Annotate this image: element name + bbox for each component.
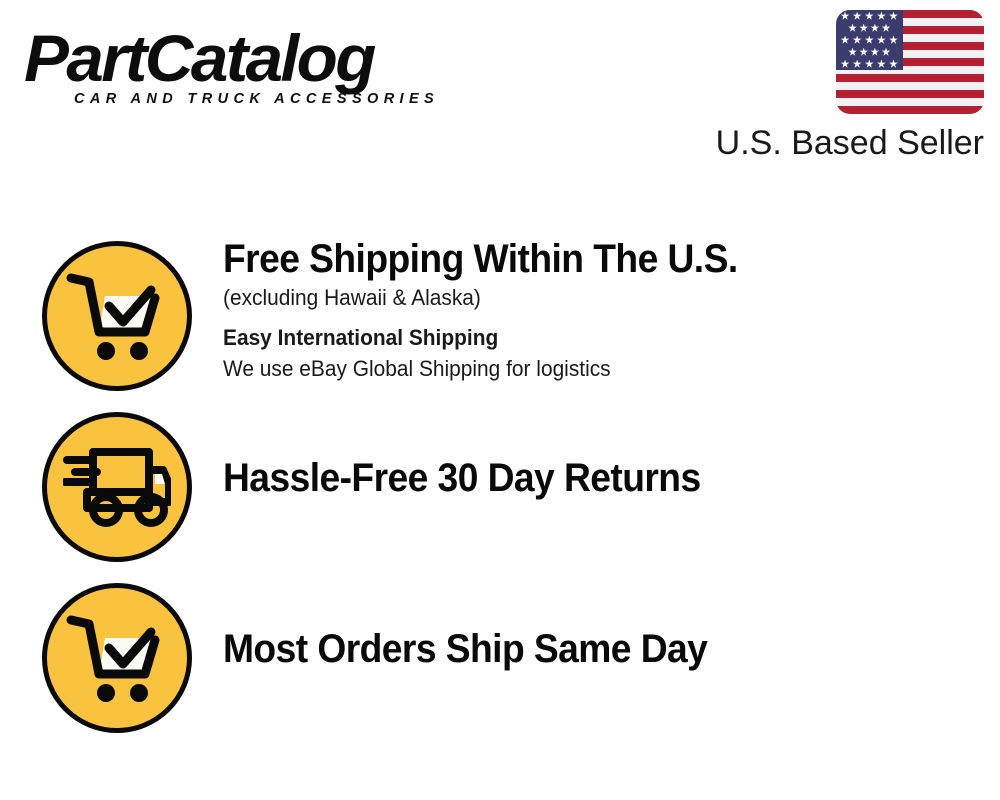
feature-list: Free Shipping Within The U.S. (excluding… [0, 232, 1000, 745]
feature-row: Free Shipping Within The U.S. (excluding… [0, 232, 1000, 403]
promo-banner: PartCatalog CAR AND TRUCK ACCESSORIES [0, 0, 1000, 800]
feature-text-block: Hassle-Free 30 Day Returns [223, 455, 983, 501]
feature-title: Hassle-Free 30 Day Returns [223, 455, 930, 501]
feature-text-block: Free Shipping Within The U.S. (excluding… [223, 236, 983, 384]
feature-row: Most Orders Ship Same Day [0, 574, 1000, 745]
shopping-cart-check-icon [42, 241, 192, 391]
delivery-truck-icon [42, 412, 192, 562]
us-based-seller-label: U.S. Based Seller [714, 123, 984, 163]
feature-sub-heading: Easy International Shipping [223, 323, 945, 353]
feature-title: Free Shipping Within The U.S. [223, 236, 930, 282]
feature-note: (excluding Hawaii & Alaska) [223, 283, 945, 313]
feature-text-block: Most Orders Ship Same Day [223, 626, 983, 672]
flag-canton [836, 10, 903, 70]
feature-row: Hassle-Free 30 Day Returns [0, 403, 1000, 574]
feature-title: Most Orders Ship Same Day [223, 626, 930, 672]
shopping-cart-check-icon [42, 583, 192, 733]
us-based-seller-block: U.S. Based Seller [714, 10, 984, 163]
us-flag-icon [836, 10, 984, 114]
brand-logo: PartCatalog CAR AND TRUCK ACCESSORIES [24, 22, 494, 117]
brand-wordmark: PartCatalog [24, 22, 503, 94]
feature-sub-body: We use eBay Global Shipping for logistic… [223, 354, 945, 384]
